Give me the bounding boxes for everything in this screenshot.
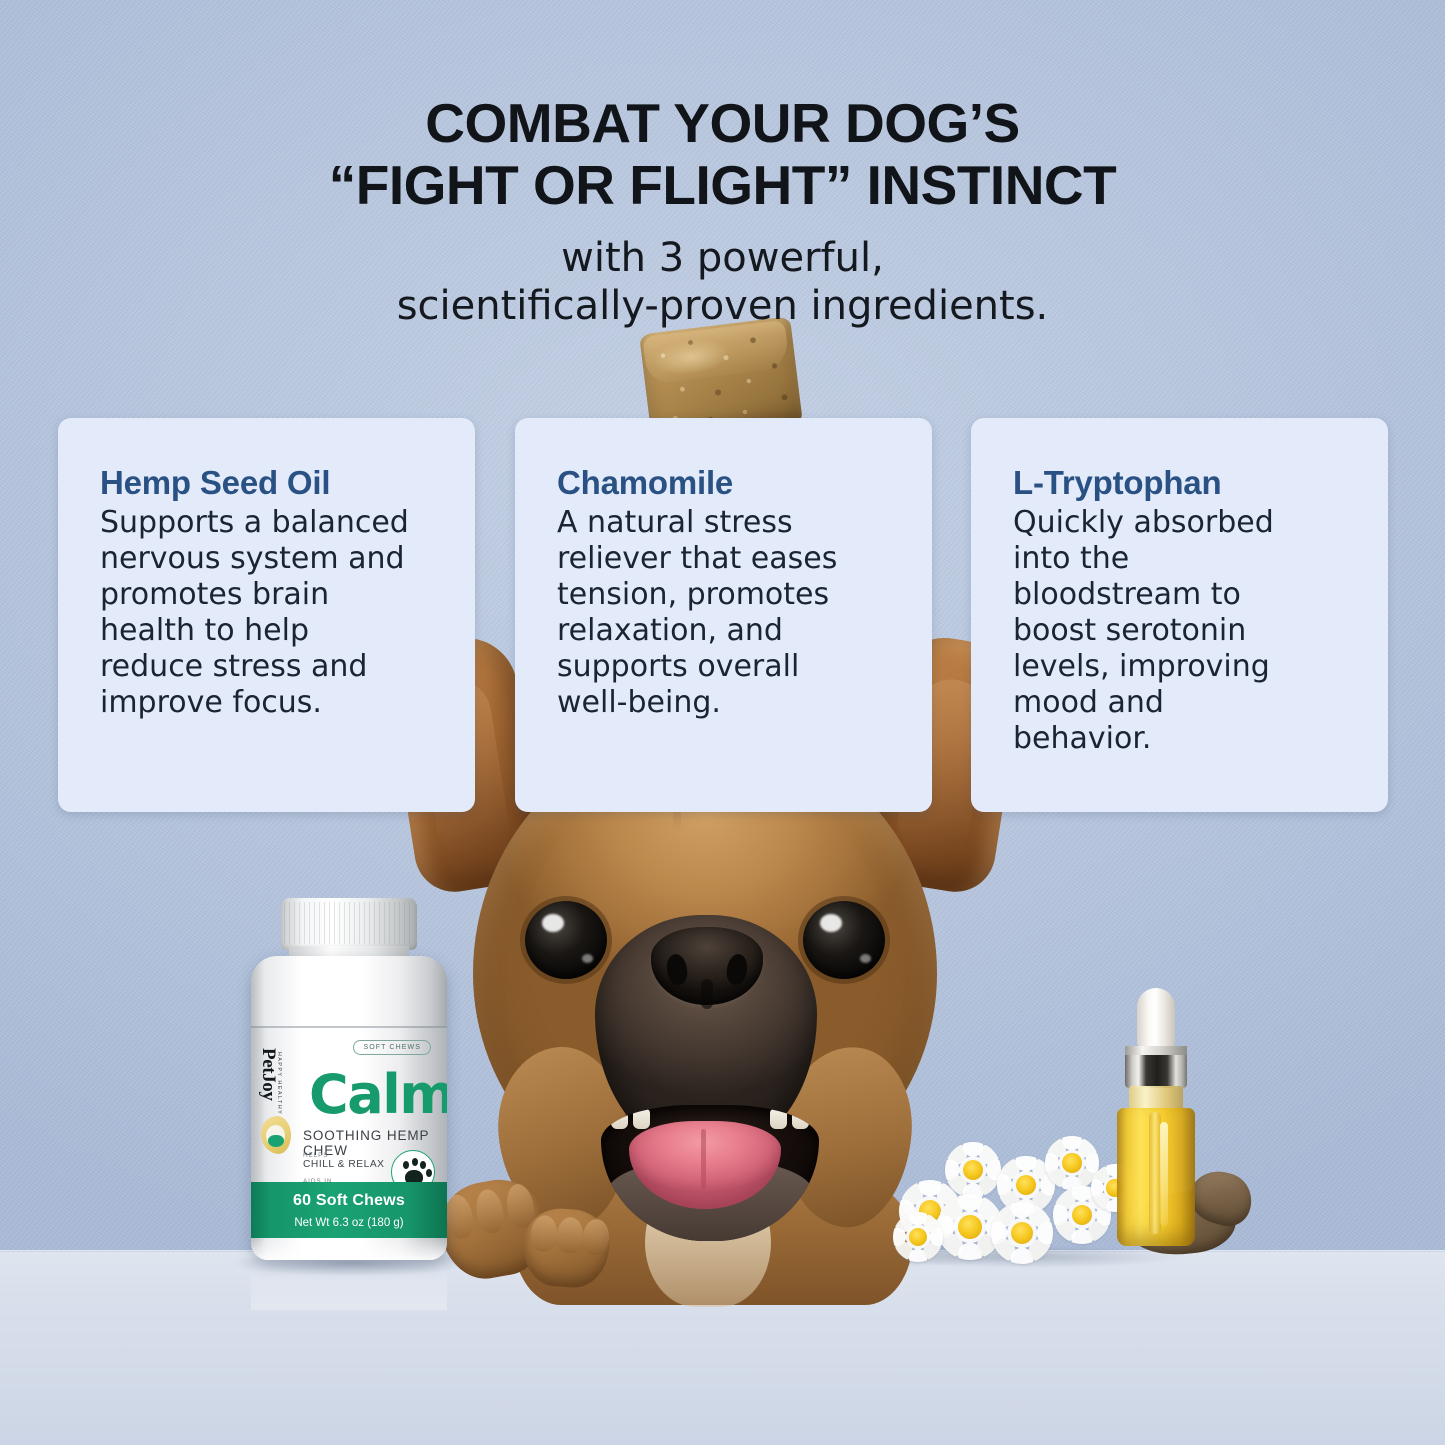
flower-center	[958, 1215, 982, 1239]
label-top-rule	[251, 1026, 447, 1028]
dog-nose-crease	[701, 979, 713, 1009]
dog-eye-right	[803, 901, 885, 979]
ingredient-description: Quickly absorbed into the bloodstream to…	[1013, 505, 1358, 757]
ingredient-description: Supports a balanced nervous system and p…	[100, 505, 445, 721]
dog-tongue-groove	[701, 1129, 706, 1189]
dropper-bulb	[1137, 988, 1175, 1050]
dropper-collar-rim	[1125, 1046, 1187, 1055]
dog-toe	[530, 1215, 558, 1253]
ingredient-card-l-tryptophan: L-Tryptophan Quickly absorbed into the b…	[971, 418, 1388, 812]
dog-tooth	[611, 1109, 628, 1129]
headline-block: COMBAT YOUR DOG’S “FIGHT OR FLIGHT” INST…	[0, 92, 1445, 330]
dog-eye-left	[525, 901, 607, 979]
petjoy-logo-icon	[259, 1116, 293, 1156]
ingredient-title: Chamomile	[557, 464, 902, 502]
dog-eye-glint-right	[860, 954, 871, 963]
subheadline: with 3 powerful, scientifically-proven i…	[0, 234, 1445, 330]
bottle-body: PetJoy HAPPY HEALTHY PETS SOFT CHEWS Cal…	[251, 956, 447, 1260]
dog-eye-highlight-right	[820, 914, 842, 932]
dog-tooth	[770, 1109, 787, 1129]
chamomile-flower	[893, 1212, 943, 1262]
dog-toe	[556, 1216, 584, 1254]
dog-mouth	[601, 1105, 819, 1241]
dog-tooth	[792, 1109, 809, 1129]
subheadline-line-2: scientifically-proven ingredients.	[0, 282, 1445, 330]
claim-prefix: HELPS	[303, 1152, 385, 1159]
infographic-canvas: COMBAT YOUR DOG’S “FIGHT OR FLIGHT” INST…	[0, 0, 1445, 1445]
ingredient-description: A natural stress reliever that eases ten…	[557, 505, 902, 721]
bottle-cap	[281, 898, 417, 950]
dog-toe	[582, 1218, 610, 1256]
dog-nostril-left	[665, 953, 690, 987]
dog-nose	[651, 927, 763, 1005]
dog-tooth	[633, 1109, 650, 1129]
dropper-highlight	[1160, 1122, 1168, 1226]
flower-center	[909, 1228, 927, 1246]
product-net-weight: Net Wt 6.3 oz (180 g)	[251, 1217, 447, 1229]
bottle-cap-ridges	[284, 902, 414, 944]
headline-line-2: “FIGHT OR FLIGHT” INSTINCT	[0, 154, 1445, 216]
hemp-oil-dropper-bottle	[1106, 988, 1204, 1250]
product-name: Calm	[309, 1068, 447, 1122]
product-claim: HELPS CHILL & RELAX	[303, 1152, 385, 1170]
paw-toe	[426, 1169, 432, 1177]
label-green-band	[251, 1182, 447, 1238]
dog-toe	[473, 1187, 506, 1235]
subheadline-line-1: with 3 powerful,	[0, 234, 1445, 282]
paw-toe	[420, 1161, 426, 1169]
ingredient-title: L-Tryptophan	[1013, 464, 1358, 502]
ingredient-card-hemp-seed-oil: Hemp Seed Oil Supports a balanced nervou…	[58, 418, 475, 812]
product-count: 60 Soft Chews	[251, 1192, 447, 1210]
flower-center	[1062, 1153, 1081, 1172]
soft-chews-badge: SOFT CHEWS	[353, 1040, 431, 1055]
chamomile-flower	[945, 1142, 1001, 1198]
ingredient-title: Hemp Seed Oil	[100, 464, 445, 502]
dog-eye-glint-left	[582, 954, 593, 963]
paw-toe	[403, 1161, 409, 1169]
logo-pup-face	[268, 1135, 284, 1147]
paw-toe	[412, 1158, 418, 1166]
dog-eye-highlight-left	[542, 914, 564, 932]
product-bottle: PetJoy HAPPY HEALTHY PETS SOFT CHEWS Cal…	[243, 898, 455, 1260]
flower-center	[963, 1160, 983, 1180]
headline-line-1: COMBAT YOUR DOG’S	[0, 92, 1445, 154]
ingredient-card-chamomile: Chamomile A natural stress reliever that…	[515, 418, 932, 812]
chamomile-flower	[991, 1202, 1053, 1264]
dog-nostril-right	[725, 953, 750, 987]
bottle-base-shine	[251, 1238, 447, 1260]
logo-pup	[266, 1125, 285, 1147]
claim-text: CHILL & RELAX	[303, 1159, 385, 1170]
